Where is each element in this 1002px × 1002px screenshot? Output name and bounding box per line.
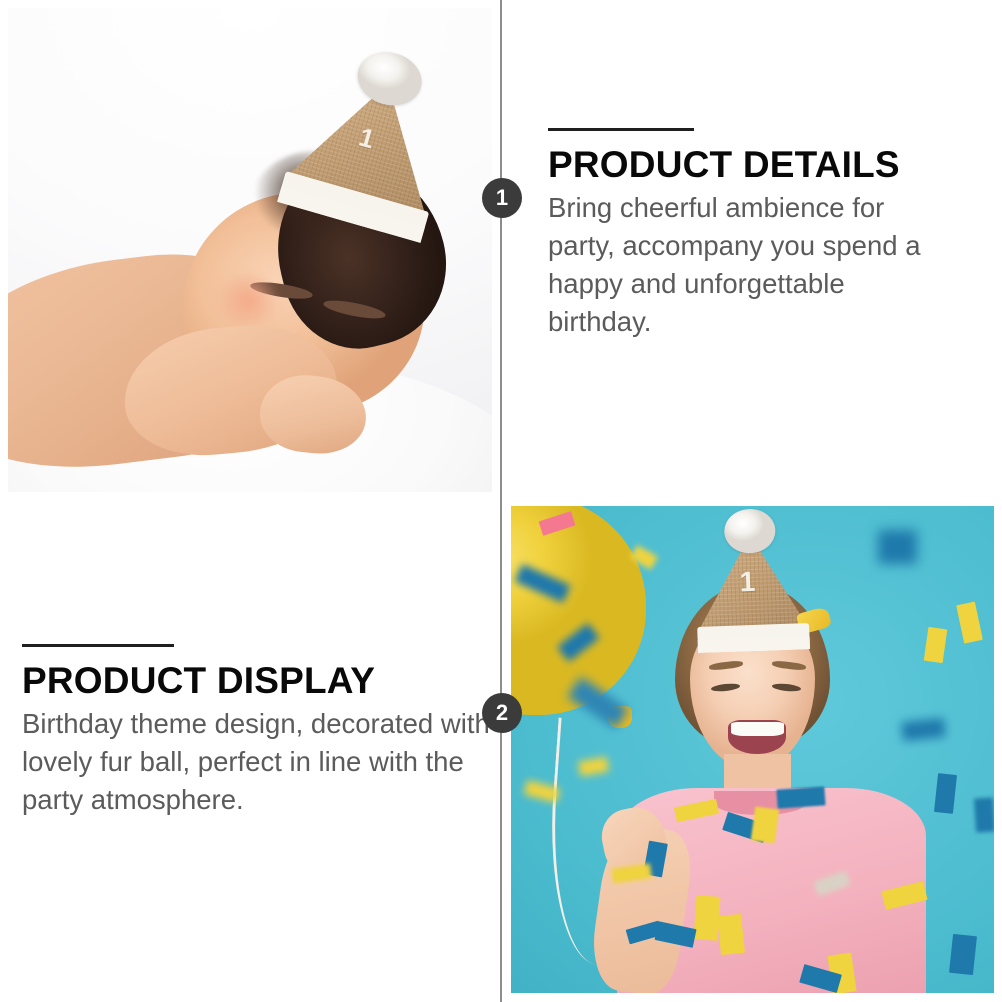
product-photo-laughing-girl: 1 <box>511 506 994 993</box>
confetti-piece <box>974 798 994 833</box>
product-photo-sleeping-baby: 1 <box>8 8 492 492</box>
heading-rule <box>548 128 694 131</box>
page-title: PRODUCT DETAILS <box>548 145 948 185</box>
birthday-party-hat: 1 <box>697 533 807 654</box>
baby-cheek-blush <box>211 274 284 327</box>
girl-teeth <box>731 722 784 736</box>
confetti-piece <box>717 914 745 955</box>
hat-pom-pom <box>724 508 777 554</box>
hat-scalloped-trim <box>698 636 811 653</box>
product-details-section: PRODUCT DETAILS Bring cheerful ambience … <box>548 128 948 341</box>
page-title: PRODUCT DISPLAY <box>22 661 492 701</box>
confetti-piece <box>878 530 917 564</box>
hat-number-label: 1 <box>740 568 757 597</box>
confetti-piece <box>949 933 977 974</box>
confetti-piece <box>750 806 779 843</box>
confetti-piece <box>693 895 720 940</box>
step-badge-1: 1 <box>482 178 522 218</box>
product-display-section: PRODUCT DISPLAY Birthday theme design, d… <box>22 644 492 819</box>
product-infographic: 1 1 <box>0 0 1002 1002</box>
product-details-description: Bring cheerful ambience for party, accom… <box>548 189 948 341</box>
heading-rule <box>22 644 174 647</box>
product-display-description: Birthday theme design, decorated with lo… <box>22 705 492 819</box>
step-badge-2: 2 <box>482 693 522 733</box>
vertical-divider <box>500 0 502 1002</box>
